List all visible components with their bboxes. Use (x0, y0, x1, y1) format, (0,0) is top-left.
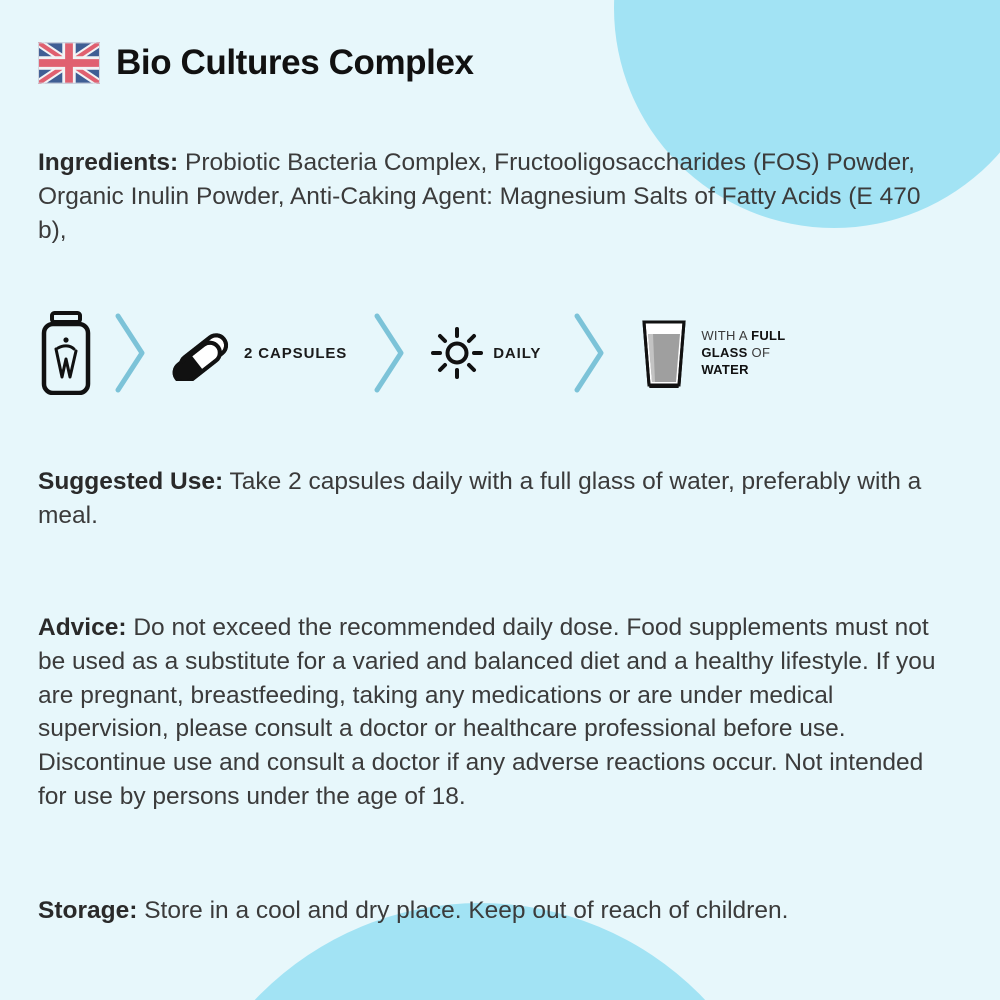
strip-step-capsules: 2 CAPSULES (172, 325, 347, 381)
chevron-right-icon-2 (367, 310, 411, 396)
water-line1-bold: FULL (751, 328, 785, 343)
ingredients-label: Ingredients: (38, 149, 178, 176)
label-page: Bio Cultures Complex Ingredients: Probio… (0, 0, 1000, 1000)
storage-paragraph: Storage: Store in a cool and dry place. … (38, 894, 950, 928)
water-line2-plain: OF (752, 345, 771, 360)
sun-icon (431, 327, 483, 379)
advice-paragraph: Advice: Do not exceed the recommended da… (38, 611, 950, 814)
storage-text: Store in a cool and dry place. Keep out … (137, 897, 788, 924)
advice-label: Advice: (38, 614, 127, 641)
suggested-use-label: Suggested Use: (38, 468, 223, 495)
uk-flag-icon (38, 42, 100, 84)
water-line3-bold: WATER (701, 362, 748, 377)
strip-step-daily: DAILY (431, 327, 541, 379)
advice-text: Do not exceed the recommended daily dose… (38, 614, 936, 810)
water-line2-bold: GLASS (701, 345, 751, 360)
strip-step-bottle (38, 311, 94, 395)
daily-label: DAILY (493, 345, 541, 362)
page-title: Bio Cultures Complex (116, 44, 474, 83)
chevron-right-icon-3 (567, 310, 611, 396)
capsules-label: 2 CAPSULES (244, 345, 347, 362)
page-header: Bio Cultures Complex (38, 0, 962, 84)
water-glass-icon (637, 317, 691, 389)
water-line1-plain: WITH A (701, 328, 751, 343)
water-glass-label: WITH A FULL GLASS OF WATER (701, 328, 785, 378)
storage-label: Storage: (38, 897, 137, 924)
usage-icon-strip: 2 CAPSULES DAILY (38, 303, 962, 403)
strip-step-water: WITH A FULL GLASS OF WATER (637, 317, 785, 389)
ingredients-paragraph: Ingredients: Probiotic Bacteria Complex,… (38, 146, 950, 247)
chevron-right-icon (108, 310, 152, 396)
supplement-bottle-icon (38, 311, 94, 395)
suggested-use-paragraph: Suggested Use: Take 2 capsules daily wit… (38, 465, 950, 533)
capsules-icon (172, 325, 234, 381)
